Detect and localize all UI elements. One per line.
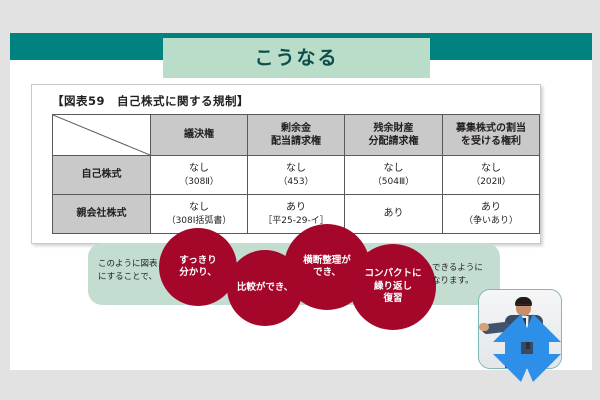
cell-1-3-line1: あり xyxy=(443,201,539,215)
benefit-circle-4-line3: 復習 xyxy=(364,293,421,305)
benefit-circle-4-line1: コンパクトに xyxy=(364,268,421,280)
cell-0-2-line2: （504Ⅲ） xyxy=(345,176,442,188)
column-header-3-line1: 残余財産 xyxy=(345,122,442,136)
column-header-3-line2: 分配請求権 xyxy=(345,135,442,149)
cell-1-3-line2: （争いあり） xyxy=(443,215,539,227)
benefit-circle-1-line2: 分かり、 xyxy=(179,267,217,279)
cell-0-2-line1: なし xyxy=(345,162,442,176)
table-row: 自己株式 なし （308Ⅱ） なし （453） なし （504Ⅲ） なし （20… xyxy=(53,156,540,195)
cell-1-1-line1: あり xyxy=(248,201,344,215)
cell-1-2: あり xyxy=(345,195,443,234)
cell-1-0-line2: （308Ⅰ括弧書） xyxy=(151,215,247,227)
cell-0-3-line1: なし xyxy=(443,162,539,176)
column-header-1-line1: 議決権 xyxy=(151,128,247,142)
slide-title-text: こうなる xyxy=(254,49,338,68)
cell-0-0-line1: なし xyxy=(151,162,247,176)
column-header-2-line1: 剰余金 xyxy=(248,122,344,136)
column-header-4-line1: 募集株式の割当 xyxy=(443,122,539,136)
column-header-2: 剰余金 配当請求権 xyxy=(248,115,345,156)
slide-title-box: こうなる xyxy=(163,38,430,78)
table-row: 親会社株式 なし （308Ⅰ括弧書） あり ［平25-29-イ］ あり あり （… xyxy=(53,195,540,234)
cell-0-0: なし （308Ⅱ） xyxy=(151,156,248,195)
benefit-circle-3-line1: 横断整理が xyxy=(303,255,351,267)
cell-0-1-line1: なし xyxy=(248,162,344,176)
move-resize-cursor-icon[interactable] xyxy=(489,310,565,386)
row-header-1: 親会社株式 xyxy=(53,195,151,234)
cell-1-0-line1: なし xyxy=(151,201,247,215)
cell-1-3: あり （争いあり） xyxy=(443,195,540,234)
column-header-2-line2: 配当請求権 xyxy=(248,135,344,149)
cell-0-3: なし （202Ⅱ） xyxy=(443,156,540,195)
column-header-3: 残余財産 分配請求権 xyxy=(345,115,443,156)
benefit-circle-4-line2: 繰り返し xyxy=(364,281,421,293)
benefit-circle-1: すっきり 分かり、 xyxy=(159,228,237,306)
table-header-row: 議決権 剰余金 配当請求権 残余財産 分配請求権 募集株式の割当 を受ける権利 xyxy=(53,115,540,156)
cell-0-1: なし （453） xyxy=(248,156,345,195)
presenter-hand xyxy=(479,323,489,331)
column-header-4: 募集株式の割当 を受ける権利 xyxy=(443,115,540,156)
banner-right-line2: なります。 xyxy=(432,275,502,288)
column-header-1: 議決権 xyxy=(151,115,248,156)
figure-card-title: 【図表59 自己株式に関する規制】 xyxy=(52,93,249,109)
regulation-table: 議決権 剰余金 配当請求権 残余財産 分配請求権 募集株式の割当 を受ける権利 … xyxy=(52,114,540,234)
cell-0-0-line2: （308Ⅱ） xyxy=(151,176,247,188)
benefit-circle-3-line2: でき、 xyxy=(303,267,351,279)
banner-right-text: できるように なります。 xyxy=(432,262,502,288)
table-corner-cell xyxy=(53,115,151,156)
screenshot-root: こうなる 【図表59 自己株式に関する規制】 議決権 剰余金 配当請求権 xyxy=(0,0,600,400)
cell-1-2-line1: あり xyxy=(345,207,442,221)
benefit-circle-2-line1: 比較ができ、 xyxy=(237,282,293,294)
cell-0-3-line2: （202Ⅱ） xyxy=(443,176,539,188)
column-header-4-line2: を受ける権利 xyxy=(443,135,539,149)
cell-0-1-line2: （453） xyxy=(248,176,344,188)
presenter-glasses xyxy=(516,304,531,309)
benefit-circle-1-line1: すっきり xyxy=(179,255,217,267)
cell-0-2: なし （504Ⅲ） xyxy=(345,156,443,195)
diagonal-line-icon xyxy=(53,115,150,155)
benefit-circle-4: コンパクトに 繰り返し 復習 xyxy=(350,244,436,330)
row-header-0: 自己株式 xyxy=(53,156,151,195)
banner-right-line1: できるように xyxy=(432,262,502,275)
